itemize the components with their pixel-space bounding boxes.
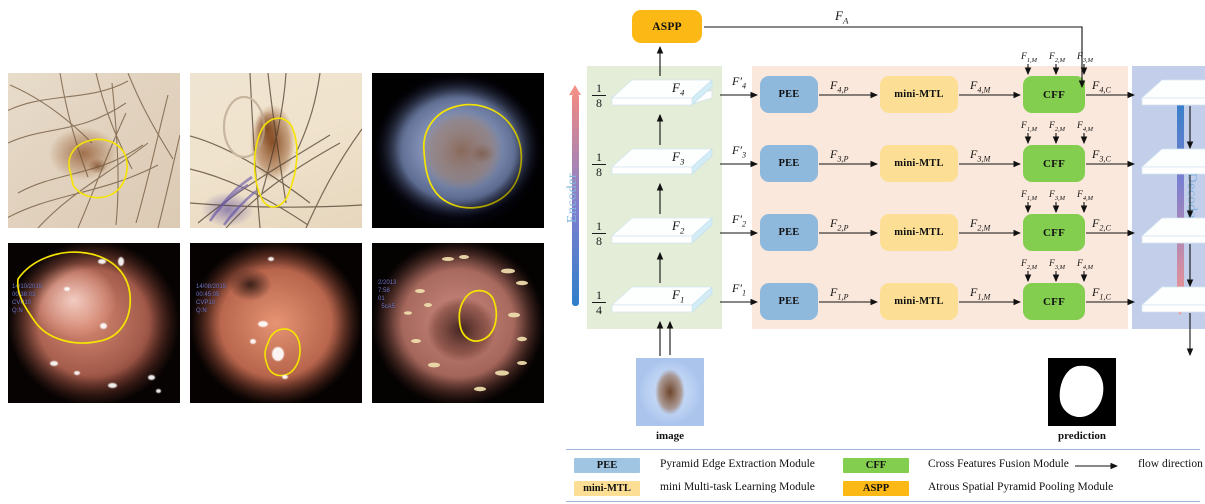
sample-image-derm-1 — [8, 73, 180, 228]
prediction-mask — [1048, 358, 1116, 426]
cff-input-label-row2-1: F1,M — [1021, 190, 1037, 202]
architecture-diagram: Encoder Decoder ASPP FA 1 8 F4 F — [560, 0, 1205, 504]
cff-input-label-row4-2: F2,M — [1049, 52, 1065, 64]
mini-mtl-label: mini-MTL — [894, 158, 943, 169]
decoder-map-D4 — [1138, 78, 1205, 112]
mini-mtl-block-row4[interactable]: mini-MTL — [880, 76, 958, 113]
legend-text-flow-direction: flow direction — [1138, 458, 1203, 470]
feature-prime-label-F4: F′4 — [732, 74, 746, 90]
legend-chip-pee: PEE — [574, 458, 640, 473]
aspp-block[interactable]: ASPP — [632, 10, 702, 43]
mini-mtl-label: mini-MTL — [894, 227, 943, 238]
scale-label-row4: 1 8 — [592, 82, 606, 109]
mini-mtl-label: mini-MTL — [894, 89, 943, 100]
cff-input-label-row4-1: F1,M — [1021, 52, 1037, 64]
cff-input-label-row1-1: F2,M — [1021, 259, 1037, 271]
input-image — [636, 358, 704, 426]
legend-divider-top — [566, 449, 1200, 450]
mini-mtl-label: mini-MTL — [894, 296, 943, 307]
cff-label: CFF — [1043, 296, 1065, 308]
cff-input-label-row2-3: F4,M — [1077, 190, 1093, 202]
mtl-output-label-row2: F2,M — [970, 216, 990, 232]
pee-output-label-row3: F3,P — [830, 147, 848, 163]
feature-prime-label-F2: F′2 — [732, 212, 746, 228]
mini-mtl-block-row3[interactable]: mini-MTL — [880, 145, 958, 182]
cff-input-label-row4-3: F3,M — [1077, 52, 1093, 64]
cff-block-row2[interactable]: CFF — [1023, 214, 1085, 251]
decoder-map-D3 — [1138, 147, 1205, 181]
cff-input-label-row3-2: F2,M — [1049, 121, 1065, 133]
figure-root: 14/10/201500:38:03CVP10Q:N 14/08/201500:… — [0, 0, 1205, 504]
legend-text-cff: Cross Features Fusion Module — [928, 458, 1069, 470]
pee-block-row4[interactable]: PEE — [760, 76, 818, 113]
pee-output-label-row4: F4,P — [830, 78, 848, 94]
cff-block-row4[interactable]: CFF — [1023, 76, 1085, 113]
pee-block-row2[interactable]: PEE — [760, 214, 818, 251]
scale-label-row3: 1 8 — [592, 151, 606, 178]
legend-divider-bottom — [566, 501, 1200, 502]
aspp-label: ASPP — [652, 21, 682, 33]
feature-label-F2: F2 — [672, 218, 684, 236]
mtl-output-label-row4: F4,M — [970, 78, 990, 94]
cff-output-label-row2: F2,C — [1092, 216, 1111, 232]
legend-text-aspp: Atrous Spatial Pyramid Pooling Module — [928, 481, 1113, 493]
sample-image-endo-2: 14/08/201500:45:05CVP10Q:N — [190, 243, 362, 403]
sample-image-derm-2 — [190, 73, 362, 228]
legend-chip-cff: CFF — [843, 458, 909, 473]
feature-label-F4: F4 — [672, 80, 684, 98]
pee-label: PEE — [778, 227, 799, 238]
feature-map-F2 — [608, 216, 716, 250]
legend-text-mini-mtl: mini Multi-task Learning Module — [660, 481, 815, 493]
mtl-output-label-row3: F3,M — [970, 147, 990, 163]
legend-chip-mini-mtl: mini-MTL — [574, 481, 640, 496]
decoder-map-D1 — [1138, 285, 1205, 319]
feature-map-F4 — [608, 78, 716, 112]
encoder-arrow-head — [569, 85, 581, 95]
feature-label-F3: F3 — [672, 149, 684, 167]
cff-input-label-row3-1: F1,M — [1021, 121, 1037, 133]
mtl-output-label-row1: F1,M — [970, 285, 990, 301]
pee-label: PEE — [778, 89, 799, 100]
prediction-caption: prediction — [1032, 430, 1132, 442]
pee-block-row3[interactable]: PEE — [760, 145, 818, 182]
aspp-skip-label: FA — [835, 8, 848, 26]
cff-label: CFF — [1043, 227, 1065, 239]
pee-label: PEE — [778, 296, 799, 307]
sample-image-endo-1: 14/10/201500:38:03CVP10Q:N — [8, 243, 180, 403]
pee-output-label-row1: F1,P — [830, 285, 848, 301]
cff-label: CFF — [1043, 158, 1065, 170]
feature-prime-label-F1: F′1 — [732, 281, 746, 297]
cff-output-label-row3: F3,C — [1092, 147, 1111, 163]
mini-mtl-block-row1[interactable]: mini-MTL — [880, 283, 958, 320]
cff-input-label-row1-2: F3,M — [1049, 259, 1065, 271]
cff-block-row3[interactable]: CFF — [1023, 145, 1085, 182]
pee-label: PEE — [778, 158, 799, 169]
feature-label-F1: F1 — [672, 287, 684, 305]
sample-image-grid: 14/10/201500:38:03CVP10Q:N 14/08/201500:… — [0, 0, 560, 420]
cff-input-label-row3-3: F4,M — [1077, 121, 1093, 133]
pee-output-label-row2: F2,P — [830, 216, 848, 232]
sample-image-derm-3 — [372, 73, 544, 228]
cff-label: CFF — [1043, 89, 1065, 101]
cff-output-label-row4: F4,C — [1092, 78, 1111, 94]
input-caption: image — [620, 430, 720, 442]
legend-flow-arrow-icon — [1073, 458, 1125, 473]
mini-mtl-block-row2[interactable]: mini-MTL — [880, 214, 958, 251]
encoder-label: Encoder — [565, 163, 581, 233]
legend-text-pee: Pyramid Edge Extraction Module — [660, 458, 815, 470]
pee-block-row1[interactable]: PEE — [760, 283, 818, 320]
cff-input-label-row2-2: F3,M — [1049, 190, 1065, 202]
scale-label-row1: 1 4 — [592, 289, 606, 316]
sample-image-endo-3: 2/20137:5801 5cA5 — [372, 243, 544, 403]
cff-input-label-row1-3: F4,M — [1077, 259, 1093, 271]
feature-map-F3 — [608, 147, 716, 181]
decoder-map-D2 — [1138, 216, 1205, 250]
scale-label-row2: 1 8 — [592, 220, 606, 247]
cff-block-row1[interactable]: CFF — [1023, 283, 1085, 320]
feature-prime-label-F3: F′3 — [732, 143, 746, 159]
feature-map-F1 — [608, 285, 716, 319]
legend-chip-aspp: ASPP — [843, 481, 909, 496]
cff-output-label-row1: F1,C — [1092, 285, 1111, 301]
